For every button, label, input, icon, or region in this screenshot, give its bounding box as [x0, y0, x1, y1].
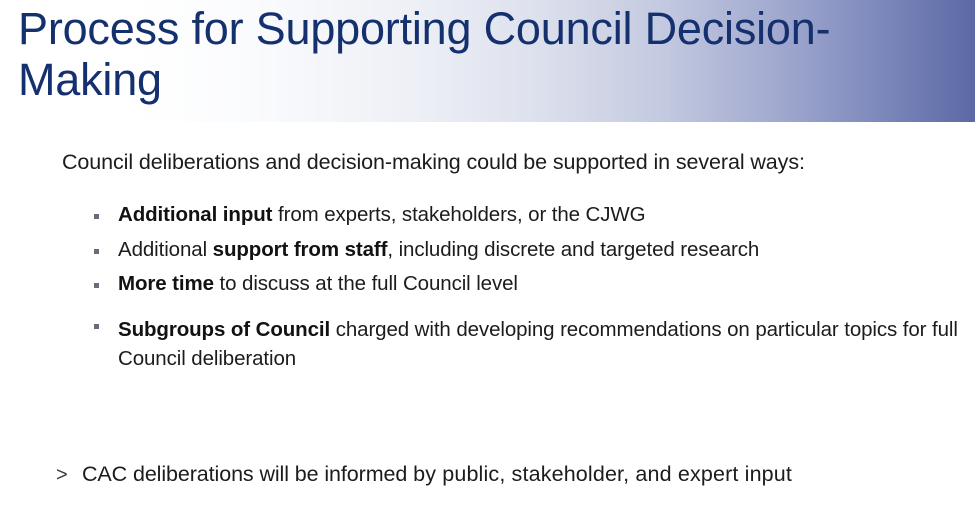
- list-item-text: from experts, stakeholders, or the CJWG: [272, 203, 645, 226]
- list-item: Additional input from experts, stakehold…: [88, 205, 968, 226]
- list-item-emphasis: Additional input: [118, 203, 272, 226]
- list-item: More time to discuss at the full Council…: [88, 274, 968, 295]
- list-item: Subgroups of Council charged with develo…: [88, 315, 968, 374]
- bullet-dot-icon: [94, 283, 99, 288]
- list-item-emphasis: support from staff: [213, 238, 388, 261]
- lead-paragraph: Council deliberations and decision-makin…: [62, 150, 805, 175]
- chevron-right-icon: >: [56, 464, 82, 487]
- closing-statement: >CAC deliberations will be informed by p…: [56, 462, 792, 487]
- list-item-emphasis: Subgroups of Council: [118, 318, 330, 341]
- list-item-emphasis: More time: [118, 272, 214, 295]
- list-item-text: to discuss at the full Council level: [214, 272, 518, 295]
- list-item: Additional support from staff, including…: [88, 240, 968, 261]
- title-band: Process for Supporting Council Decision-…: [0, 0, 975, 122]
- bullet-dot-icon: [94, 214, 99, 219]
- list-item-prefix: Additional: [118, 238, 213, 261]
- bullet-dot-icon: [94, 249, 99, 254]
- slide: Process for Supporting Council Decision-…: [0, 0, 975, 518]
- closing-tail-text: by public, stakeholder, and expert input: [413, 462, 792, 486]
- bullet-list: Additional input from experts, stakehold…: [88, 205, 968, 388]
- bullet-dot-icon: [94, 324, 99, 329]
- body-area: Council deliberations and decision-makin…: [0, 122, 975, 518]
- closing-lead-text: CAC deliberations will be informed: [82, 462, 413, 486]
- page-title: Process for Supporting Council Decision-…: [18, 4, 948, 106]
- list-item-text: , including discrete and targeted resear…: [387, 238, 759, 261]
